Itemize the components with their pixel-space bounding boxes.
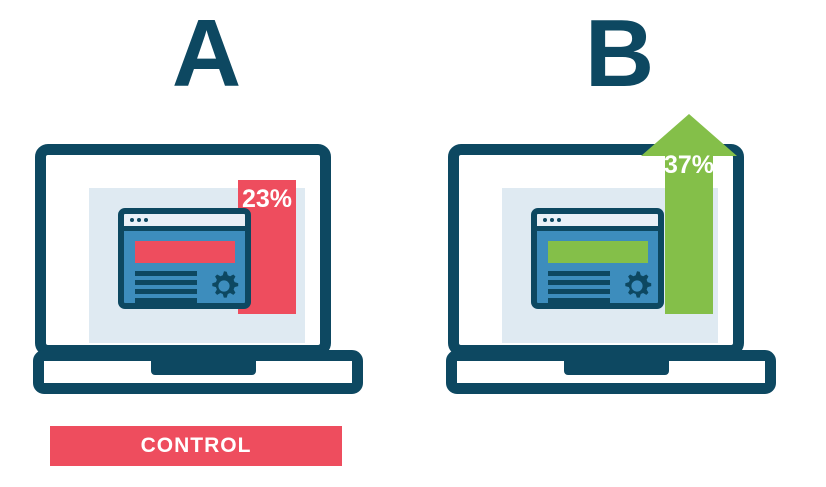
browser-mock-a: [118, 208, 251, 309]
gear-icon: [206, 268, 242, 304]
browser-banner-a: [135, 241, 235, 263]
window-dot-icon-1: [130, 218, 134, 222]
browser-text-lines-b: [548, 271, 610, 309]
browser-text-line: [135, 298, 197, 303]
browser-titlebar-a: [124, 214, 245, 231]
browser-text-line: [548, 289, 610, 294]
browser-text-line: [548, 307, 610, 309]
window-dot-icon-2: [137, 218, 141, 222]
caption-control: CONTROL: [50, 426, 342, 466]
laptop-trackpad-notch-a: [151, 350, 256, 375]
variant-panel-b: B: [413, 0, 826, 487]
variant-panel-a: A 23%: [0, 0, 413, 487]
browser-titlebar-b: [537, 214, 658, 231]
laptop-b: 37%: [446, 144, 776, 404]
window-dot-icon-2: [550, 218, 554, 222]
browser-text-line: [548, 271, 610, 276]
metric-value-b: 37%: [641, 150, 737, 180]
variant-letter-a: A: [0, 2, 413, 106]
window-dot-icon-3: [557, 218, 561, 222]
window-dot-icon-1: [543, 218, 547, 222]
browser-text-line: [135, 271, 197, 276]
browser-text-line: [135, 307, 197, 309]
browser-text-line: [548, 280, 610, 285]
laptop-a: 23%: [33, 144, 363, 404]
browser-text-lines-a: [135, 271, 197, 309]
variant-letter-b: B: [413, 2, 826, 106]
browser-banner-b: [548, 241, 648, 263]
metric-arrow-b: 37%: [641, 114, 737, 314]
browser-text-line: [548, 298, 610, 303]
browser-text-line: [135, 289, 197, 294]
window-dot-icon-3: [144, 218, 148, 222]
ab-test-illustration: A 23%: [0, 0, 826, 487]
laptop-trackpad-notch-b: [564, 350, 669, 375]
arrow-up-icon: [641, 114, 737, 314]
browser-text-line: [135, 280, 197, 285]
